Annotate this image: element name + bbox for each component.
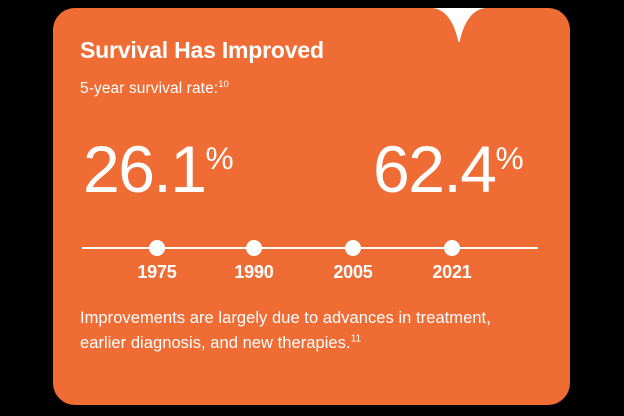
timeline-year-label: 1990	[209, 262, 299, 283]
page-title: Survival Has Improved	[80, 37, 324, 64]
timeline-year-label: 1975	[112, 262, 202, 283]
timeline-dot-icon	[246, 240, 262, 256]
timeline-dot-icon	[345, 240, 361, 256]
survival-stat-card: Survival Has Improved 5-year survival ra…	[53, 8, 570, 405]
card-notch-decoration	[432, 8, 486, 46]
timeline: 1975 1990 2005 2021	[82, 240, 538, 286]
explanatory-text: Improvements are largely due to advances…	[80, 309, 491, 352]
subtitle-footnote-marker: 10	[218, 79, 229, 90]
stat-number-1975: 26.1	[83, 132, 205, 206]
percent-sign-1975: %	[205, 140, 233, 176]
timeline-dot-icon	[149, 240, 165, 256]
stat-number-2021: 62.4	[373, 132, 495, 206]
stat-value-2021: 62.4%	[373, 136, 524, 202]
body-footnote-marker: 11	[351, 334, 362, 345]
timeline-dot-icon	[444, 240, 460, 256]
timeline-year-label: 2021	[407, 262, 497, 283]
percent-sign-2021: %	[495, 140, 523, 176]
subtitle-label: 5-year survival rate:10	[80, 80, 229, 98]
stat-value-1975: 26.1%	[83, 136, 234, 202]
screenshot-stage: Survival Has Improved 5-year survival ra…	[0, 0, 624, 416]
subtitle-text: 5-year survival rate:	[80, 80, 218, 97]
explanatory-paragraph: Improvements are largely due to advances…	[80, 306, 532, 356]
timeline-year-label: 2005	[308, 262, 398, 283]
